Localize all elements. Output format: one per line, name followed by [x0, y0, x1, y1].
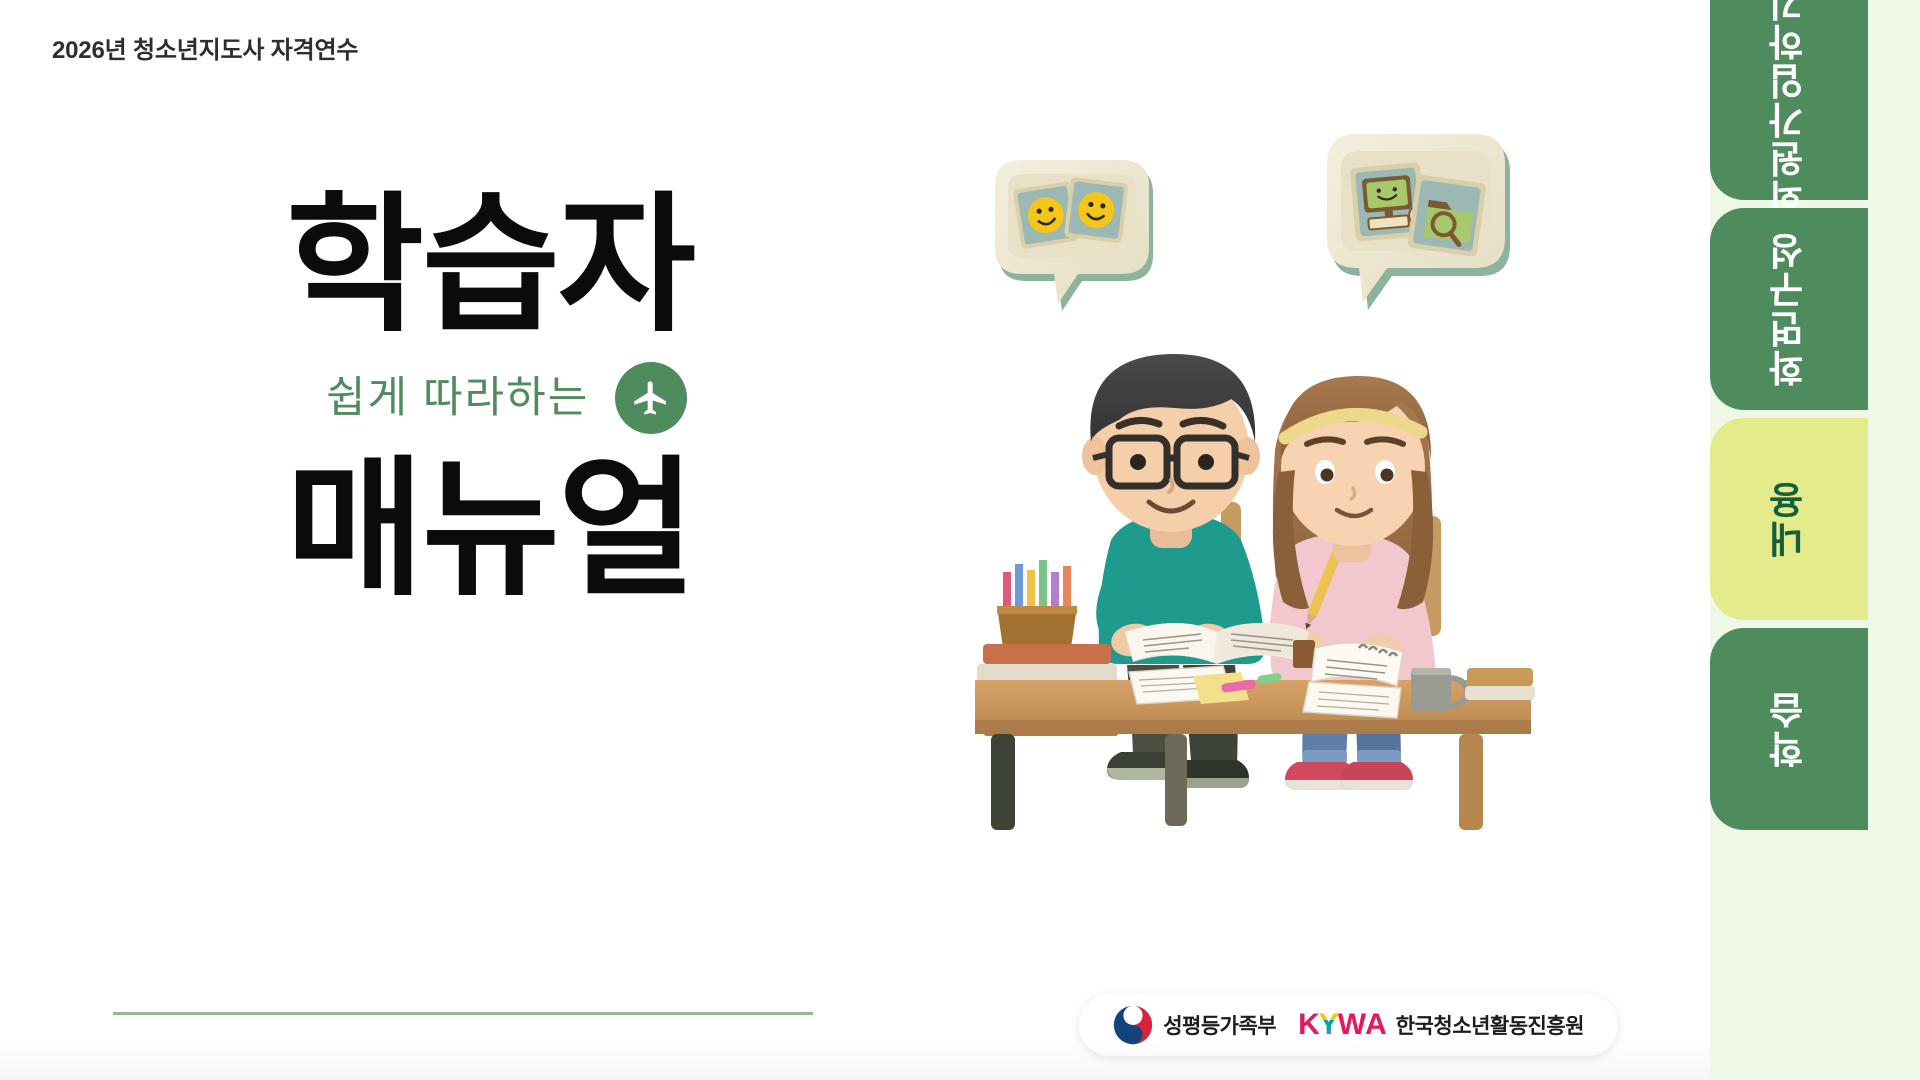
kywa-logo: KYWA 한국청소년활동진흥원: [1298, 1010, 1584, 1040]
ministry-logo: 성평등가족부: [1113, 1005, 1276, 1045]
sidebar-item-label: 내용: [1771, 480, 1808, 558]
worksheet-right: [1303, 682, 1401, 718]
airplane-icon: [615, 362, 687, 434]
footer-divider: [113, 1012, 813, 1015]
kywa-letter-y: Y: [1319, 1010, 1338, 1040]
pencil-cup: [997, 560, 1077, 648]
sidebar-tab-rail: 회원가입하기 화면구성 내용 학습: [1710, 0, 1868, 1080]
sidebar-item-label: 회원가입하기: [1771, 0, 1808, 217]
speech-bubble-computer: [1327, 134, 1510, 310]
ministry-name: 성평등가족부: [1163, 1010, 1276, 1040]
kywa-letter-k: K: [1298, 1010, 1319, 1040]
page-subtitle: 쉽게 따라하는: [326, 377, 589, 420]
page-eyebrow-title: 2026년 청소년지도사 자격연수: [52, 30, 358, 65]
hero-block: 학습자 쉽게 따라하는 매뉴얼: [286, 190, 926, 604]
hero-subtitle-row: 쉽게 따라하는: [326, 362, 926, 434]
speech-bubble-smileys: [995, 160, 1153, 311]
sidebar-item-screen-layout[interactable]: 화면구성: [1710, 208, 1868, 410]
footer-logo-bar: 성평등가족부 KYWA 한국청소년활동진흥원: [1079, 994, 1618, 1056]
kywa-wordmark: KYWA: [1298, 1010, 1386, 1040]
page-title-line2: 매뉴얼: [286, 454, 926, 604]
taegeuk-icon: [1113, 1005, 1153, 1045]
kywa-letter-a: A: [1365, 1010, 1386, 1040]
page-title-line1: 학습자: [286, 190, 926, 340]
sidebar-item-learning[interactable]: 학습: [1710, 628, 1868, 830]
students-illustration: [975, 120, 1535, 840]
sidebar-item-label: 화면구성: [1771, 231, 1808, 387]
sidebar-item-content[interactable]: 내용: [1710, 418, 1868, 620]
kywa-letter-w: W: [1338, 1010, 1365, 1040]
org-name: 한국청소년활동진흥원: [1396, 1010, 1584, 1040]
sidebar-item-label: 학습: [1771, 690, 1808, 768]
sidebar-item-signup[interactable]: 회원가입하기: [1710, 0, 1868, 200]
